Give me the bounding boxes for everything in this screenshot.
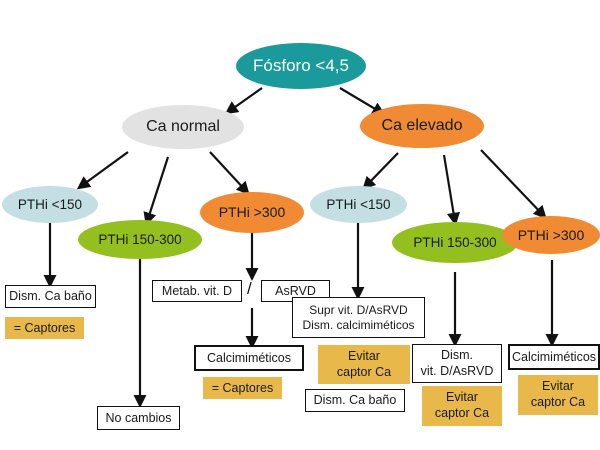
node-right-pthi-mid[interactable]: PTHi 150-300	[392, 222, 518, 263]
box-supr-vit-d-asrvd[interactable]: Supr vit. D/AsRVD Dism. calcimiméticos	[292, 297, 425, 338]
box-calcimimeticos-right[interactable]: Calcimiméticos	[508, 344, 600, 370]
edge-root-to-ca-elevado	[340, 88, 382, 113]
node-right-pthi-high[interactable]: PTHi >300	[502, 216, 600, 254]
separator-slash: /	[247, 279, 252, 299]
decision-tree-diagram: Fósforo <4,5 Ca normal Ca elevado PTHi <…	[0, 0, 600, 450]
edge-root-to-ca-normal	[228, 88, 262, 112]
edge-ca-elevado-to-pthi-low	[365, 153, 398, 187]
box-metab-vit-d[interactable]: Metab. vit. D	[152, 280, 242, 302]
edge-ca-elevado-to-pthi-high	[481, 150, 544, 216]
node-left-pthi-high[interactable]: PTHi >300	[200, 192, 304, 233]
edge-ca-normal-to-pthi-high	[210, 152, 247, 192]
box-captores-middle[interactable]: = Captores	[203, 377, 282, 399]
box-dism-ca-bano-right[interactable]: Dism. Ca baño	[305, 389, 405, 412]
box-evitar-captor-ca-right-mid[interactable]: Evitar captor Ca	[422, 386, 502, 426]
node-ca-elevado[interactable]: Ca elevado	[360, 104, 484, 148]
node-right-pthi-low[interactable]: PTHi <150	[310, 186, 407, 223]
edge-ca-normal-to-pthi-low	[80, 152, 128, 187]
box-evitar-captor-ca-right-low[interactable]: Evitar captor Ca	[318, 345, 410, 384]
box-dism-vit-d-asrvd[interactable]: Dism. vit. D/AsRVD	[412, 344, 502, 383]
box-captores-left[interactable]: = Captores	[5, 317, 84, 339]
node-root-fosforo[interactable]: Fósforo <4,5	[236, 43, 366, 89]
box-calcimimeticos-middle[interactable]: Calcimiméticos	[194, 345, 304, 371]
box-dism-ca-bano-left[interactable]: Dism. Ca baño	[5, 285, 96, 308]
edge-ca-elevado-to-pthi-mid	[444, 155, 455, 222]
edge-ca-normal-to-pthi-mid	[147, 157, 168, 222]
box-evitar-captor-ca-right-high[interactable]: Evitar captor Ca	[518, 375, 598, 415]
node-ca-normal[interactable]: Ca normal	[122, 105, 244, 149]
node-left-pthi-low[interactable]: PTHi <150	[2, 186, 98, 223]
node-left-pthi-mid[interactable]: PTHi 150-300	[78, 220, 202, 259]
box-no-cambios[interactable]: No cambios	[97, 406, 180, 430]
